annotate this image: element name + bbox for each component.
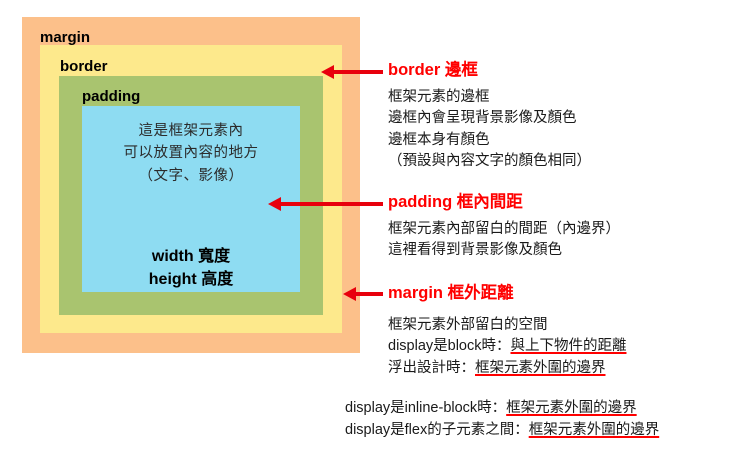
note-line-prefix: display是flex的子元素之間： xyxy=(345,422,529,438)
margin-arrow xyxy=(343,287,383,301)
margin-note-title: margin 框外距離 xyxy=(388,284,627,303)
margin-label: margin xyxy=(40,30,90,45)
width-label: width 寬度 xyxy=(82,245,300,268)
content-dimensions: width 寬度 height 高度 xyxy=(82,245,300,291)
margin-note: margin 框外距離 框架元素外部留白的空間 display是block時：與… xyxy=(388,284,627,379)
padding-label: padding xyxy=(82,89,140,104)
note-line-emphasis: 框架元素外圍的邊界 xyxy=(475,360,606,376)
note-line-prefix: 框架元素外部留白的空間 xyxy=(388,317,548,333)
arrow-shaft xyxy=(354,292,383,296)
padding-note: padding 框內間距 框架元素內部留白的間距（內邊界） 這裡看得到背景影像及… xyxy=(388,193,620,262)
note-line-emphasis: 框架元素外圍的邊界 xyxy=(529,422,660,438)
border-note-title: border 邊框 xyxy=(388,61,591,80)
content-description: 這是框架元素內 可以放置內容的地方 （文字、影像） xyxy=(82,120,300,187)
note-line: 框架元素外部留白的空間 xyxy=(388,315,627,336)
padding-note-title: padding 框內間距 xyxy=(388,193,620,212)
note-line: 邊框本身有顏色 xyxy=(388,130,591,151)
border-label: border xyxy=(60,59,108,74)
note-line-prefix: display是block時： xyxy=(388,338,511,354)
arrow-shaft xyxy=(279,202,383,206)
note-line-emphasis: 框架元素外圍的邊界 xyxy=(506,400,637,416)
note-line: 浮出設計時：框架元素外圍的邊界 xyxy=(388,358,627,379)
padding-note-body: 框架元素內部留白的間距（內邊界） 這裡看得到背景影像及顏色 xyxy=(388,219,620,262)
arrow-shaft xyxy=(332,70,383,74)
note-line-emphasis: 與上下物件的距離 xyxy=(511,338,627,354)
height-label: height 高度 xyxy=(82,268,300,291)
content-line-2: 可以放置內容的地方 xyxy=(82,142,300,164)
note-line: （預設與內容文字的顏色相同） xyxy=(388,151,591,172)
content-line-1: 這是框架元素內 xyxy=(82,120,300,142)
note-line-prefix: 浮出設計時： xyxy=(388,360,475,376)
note-line: display是flex的子元素之間：框架元素外圍的邊界 xyxy=(345,420,659,442)
note-line: display是inline-block時：框架元素外圍的邊界 xyxy=(345,398,659,420)
content-line-3: （文字、影像） xyxy=(82,165,300,187)
note-line: display是block時：與上下物件的距離 xyxy=(388,336,627,357)
border-note-body: 框架元素的邊框 邊框內會呈現背景影像及顏色 邊框本身有顏色 （預設與內容文字的顏… xyxy=(388,87,591,173)
padding-arrow xyxy=(268,197,383,211)
margin-note-body: 框架元素外部留白的空間 display是block時：與上下物件的距離 浮出設計… xyxy=(388,315,627,379)
display-mode-notes: display是inline-block時：框架元素外圍的邊界 display是… xyxy=(345,398,659,442)
border-arrow xyxy=(321,65,383,79)
note-line-prefix: display是inline-block時： xyxy=(345,400,506,416)
border-note: border 邊框 框架元素的邊框 邊框內會呈現背景影像及顏色 邊框本身有顏色 … xyxy=(388,61,591,173)
note-line: 框架元素內部留白的間距（內邊界） xyxy=(388,219,620,240)
box-model-diagram: margin border padding 這是框架元素內 可以放置內容的地方 … xyxy=(22,17,360,353)
note-line: 邊框內會呈現背景影像及顏色 xyxy=(388,108,591,129)
note-line: 框架元素的邊框 xyxy=(388,87,591,108)
note-line: 這裡看得到背景影像及顏色 xyxy=(388,240,620,261)
